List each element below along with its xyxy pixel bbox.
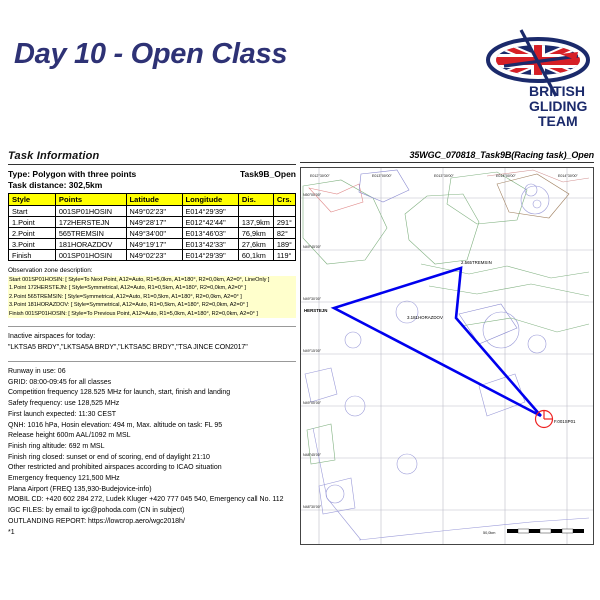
cell-course: 119° bbox=[273, 250, 295, 261]
note-line-finish-ring-closed: Finish ring closed: sunset or end of sco… bbox=[8, 453, 296, 464]
note-line-finish-ring-altitude: Finish ring altitude: 692 m MSL bbox=[8, 442, 296, 453]
note-line-footnote: *1 bbox=[8, 528, 296, 539]
cell-latitude: N49°19'17" bbox=[126, 239, 182, 250]
note-line-release-height: Release height 600m AAL/1092 m MSL bbox=[8, 431, 296, 442]
logo-line1: BRITISH bbox=[529, 83, 585, 99]
cell-points: 001SP01HOSIN bbox=[55, 250, 126, 261]
note-line-mobile-cd: MOBIL CD: +420 602 284 272, Ludek Kluger… bbox=[8, 495, 296, 506]
divider-above-notes bbox=[8, 361, 296, 362]
note-line-runway: Runway in use: 06 bbox=[8, 367, 296, 378]
lat-label: N50°00'00" bbox=[303, 193, 322, 197]
cell-course: 291° bbox=[273, 217, 295, 228]
lon-label: E013°30'00" bbox=[434, 174, 455, 178]
inactive-airspaces-title: Inactive airspaces for today: bbox=[8, 332, 296, 343]
lat-label: N49°00'00" bbox=[303, 401, 322, 405]
cell-style: Finish bbox=[9, 250, 56, 261]
table-row: Finish 001SP01HOSIN N49°02'23" E014°29'3… bbox=[9, 250, 296, 261]
cell-longitude: E014°29'39" bbox=[182, 206, 238, 217]
cell-style: 3.Point bbox=[9, 239, 56, 250]
observation-zone-title: Observation zone description: bbox=[8, 267, 296, 274]
note-line-grid: GRID: 08:00-09:45 for all classes bbox=[8, 378, 296, 389]
point-label-horazdov: 3.181HORAZDOV bbox=[407, 315, 443, 320]
column-header-style: Style bbox=[9, 194, 56, 206]
cell-latitude: N49°02'23" bbox=[126, 250, 182, 261]
cell-points: 001SP01HOSIN bbox=[55, 206, 126, 217]
table-row: 3.Point 181HORAZDOV N49°19'17" E013°42'3… bbox=[9, 239, 296, 250]
task-distance-label: Task distance: 302,5km bbox=[8, 180, 296, 190]
point-label-start: F.001SP01 bbox=[554, 419, 576, 424]
lat-label: N48°30'00" bbox=[303, 505, 322, 509]
cell-latitude: N49°28'17" bbox=[126, 217, 182, 228]
lat-label: N49°45'00" bbox=[303, 245, 322, 249]
task-points-table: Style Points Latitude Longitude Dis. Crs… bbox=[8, 193, 296, 261]
logo-line3: TEAM bbox=[538, 113, 578, 129]
lat-label: N49°15'00" bbox=[303, 349, 322, 353]
table-row: 2.Point 565TREMSIN N49°34'00" E013°46'03… bbox=[9, 228, 296, 239]
cell-style: Start bbox=[9, 206, 56, 217]
note-line-qnh: QNH: 1016 hPa, Hosin elevation: 494 m, M… bbox=[8, 421, 296, 432]
note-line-comp-frequency: Competition frequency 128.525 MHz for la… bbox=[8, 388, 296, 399]
column-header-distance: Dis. bbox=[238, 194, 273, 206]
note-line-first-launch: First launch expected: 11:30 CEST bbox=[8, 410, 296, 421]
cell-longitude: E012°42'44" bbox=[182, 217, 238, 228]
cell-course bbox=[273, 206, 295, 217]
note-line-other-airspaces: Other restricted and prohibited airspace… bbox=[8, 463, 296, 474]
divider-above-airspaces bbox=[8, 326, 296, 327]
task-information-heading: Task Information bbox=[8, 150, 296, 165]
note-line-plana-airport: Plana Airport (FREQ 135,930-Budejovice-i… bbox=[8, 485, 296, 496]
column-header-points: Points bbox=[55, 194, 126, 206]
cell-points: 565TREMSIN bbox=[55, 228, 126, 239]
observation-zone-line: 2.Point 565TREMSIN: [ Style=Symmetrical,… bbox=[8, 293, 296, 302]
lat-label: N48°45'00" bbox=[303, 453, 322, 457]
task-name-label: Task9B_Open bbox=[240, 169, 296, 179]
observation-zone-block: Observation zone description: Start 001S… bbox=[8, 267, 296, 318]
map-caption: 35WGC_070818_Task9B(Racing task)_Open bbox=[300, 150, 594, 163]
scale-label: 50,0km bbox=[483, 531, 495, 535]
cell-longitude: E013°42'33" bbox=[182, 239, 238, 250]
airspace-outlines bbox=[303, 170, 589, 540]
cell-course: 82° bbox=[273, 228, 295, 239]
observation-zone-line: Start 001SP01HOSIN: [ Style=To Next Poin… bbox=[8, 276, 296, 285]
note-line-outlanding-report: OUTLANDING REPORT: https://lowcrop.aero/… bbox=[8, 517, 296, 528]
cell-style: 1.Point bbox=[9, 217, 56, 228]
cell-course: 189° bbox=[273, 239, 295, 250]
cell-distance: 60,1km bbox=[238, 250, 273, 261]
task-route-track bbox=[334, 268, 541, 416]
start-finish-marker bbox=[536, 411, 553, 428]
cell-longitude: E013°46'03" bbox=[182, 228, 238, 239]
cell-points: 172HERSTEJN bbox=[55, 217, 126, 228]
column-header-course: Crs. bbox=[273, 194, 295, 206]
lon-label: E014°00'00" bbox=[496, 174, 517, 178]
logo-line2: GLIDING bbox=[529, 98, 587, 114]
lon-label: E014°30'00" bbox=[558, 174, 579, 178]
task-type-row: Type: Polygon with three points Task9B_O… bbox=[8, 169, 296, 179]
task-notes-block: Runway in use: 06 GRID: 08:00-09:45 for … bbox=[8, 367, 296, 538]
point-label-herstejn: HERSTEJN bbox=[304, 308, 327, 313]
column-header-latitude: Latitude bbox=[126, 194, 182, 206]
cell-latitude: N49°02'23" bbox=[126, 206, 182, 217]
lon-label: E013°00'00" bbox=[372, 174, 393, 178]
inactive-airspaces-block: Inactive airspaces for today: "LKTSA5 BR… bbox=[8, 332, 296, 353]
table-header-row: Style Points Latitude Longitude Dis. Crs… bbox=[9, 194, 296, 206]
note-line-igc-files: IGC FILES: by email to igc@pohoda.com (C… bbox=[8, 506, 296, 517]
task-type-label: Type: Polygon with three points bbox=[8, 169, 136, 179]
task-information-panel: Task Information Type: Polygon with thre… bbox=[8, 150, 296, 538]
cell-distance bbox=[238, 206, 273, 217]
note-line-safety-frequency: Safety frequency: use 128,525 MHz bbox=[8, 399, 296, 410]
point-label-tremsin: 2.565TREMSIN bbox=[461, 260, 492, 265]
note-line-emergency-frequency: Emergency frequency 121,500 MHz bbox=[8, 474, 296, 485]
column-header-longitude: Longitude bbox=[182, 194, 238, 206]
table-row: Start 001SP01HOSIN N49°02'23" E014°29'39… bbox=[9, 206, 296, 217]
cell-distance: 76,9km bbox=[238, 228, 273, 239]
inactive-airspaces-list: "LKTSA5 BRDY","LKTSA5A BRDY","LKTSA5C BR… bbox=[8, 343, 296, 354]
cell-distance: 27,6km bbox=[238, 239, 273, 250]
observation-zone-line: 1.Point 172HERSTEJN: [ Style=Symmetrical… bbox=[8, 284, 296, 293]
table-row: 1.Point 172HERSTEJN N49°28'17" E012°42'4… bbox=[9, 217, 296, 228]
cell-latitude: N49°34'00" bbox=[126, 228, 182, 239]
task-map-panel: 35WGC_070818_Task9B(Racing task)_Open bbox=[300, 150, 594, 550]
cell-longitude: E014°29'39" bbox=[182, 250, 238, 261]
observation-zone-line: 3.Point 181HORAZDOV: [ Style=Symmetrical… bbox=[8, 301, 296, 310]
british-gliding-team-logo: BRITISH GLIDING TEAM bbox=[486, 22, 594, 130]
cell-distance: 137,9km bbox=[238, 217, 273, 228]
cell-style: 2.Point bbox=[9, 228, 56, 239]
lon-label: E012°30'00" bbox=[310, 174, 331, 178]
page-header: Day 10 - Open Class bbox=[0, 0, 600, 140]
cell-points: 181HORAZDOV bbox=[55, 239, 126, 250]
page-title: Day 10 - Open Class bbox=[14, 38, 287, 71]
map-canvas[interactable]: E012°30'00" E013°00'00" E013°30'00" E014… bbox=[300, 167, 594, 545]
observation-zone-line: Finish 001SP01HOSIN: [ Style=To Previous… bbox=[8, 310, 296, 319]
map-scale-bar: 50,0km bbox=[483, 529, 584, 535]
map-graticule bbox=[301, 168, 593, 544]
lat-label: N49°30'00" bbox=[303, 297, 322, 301]
